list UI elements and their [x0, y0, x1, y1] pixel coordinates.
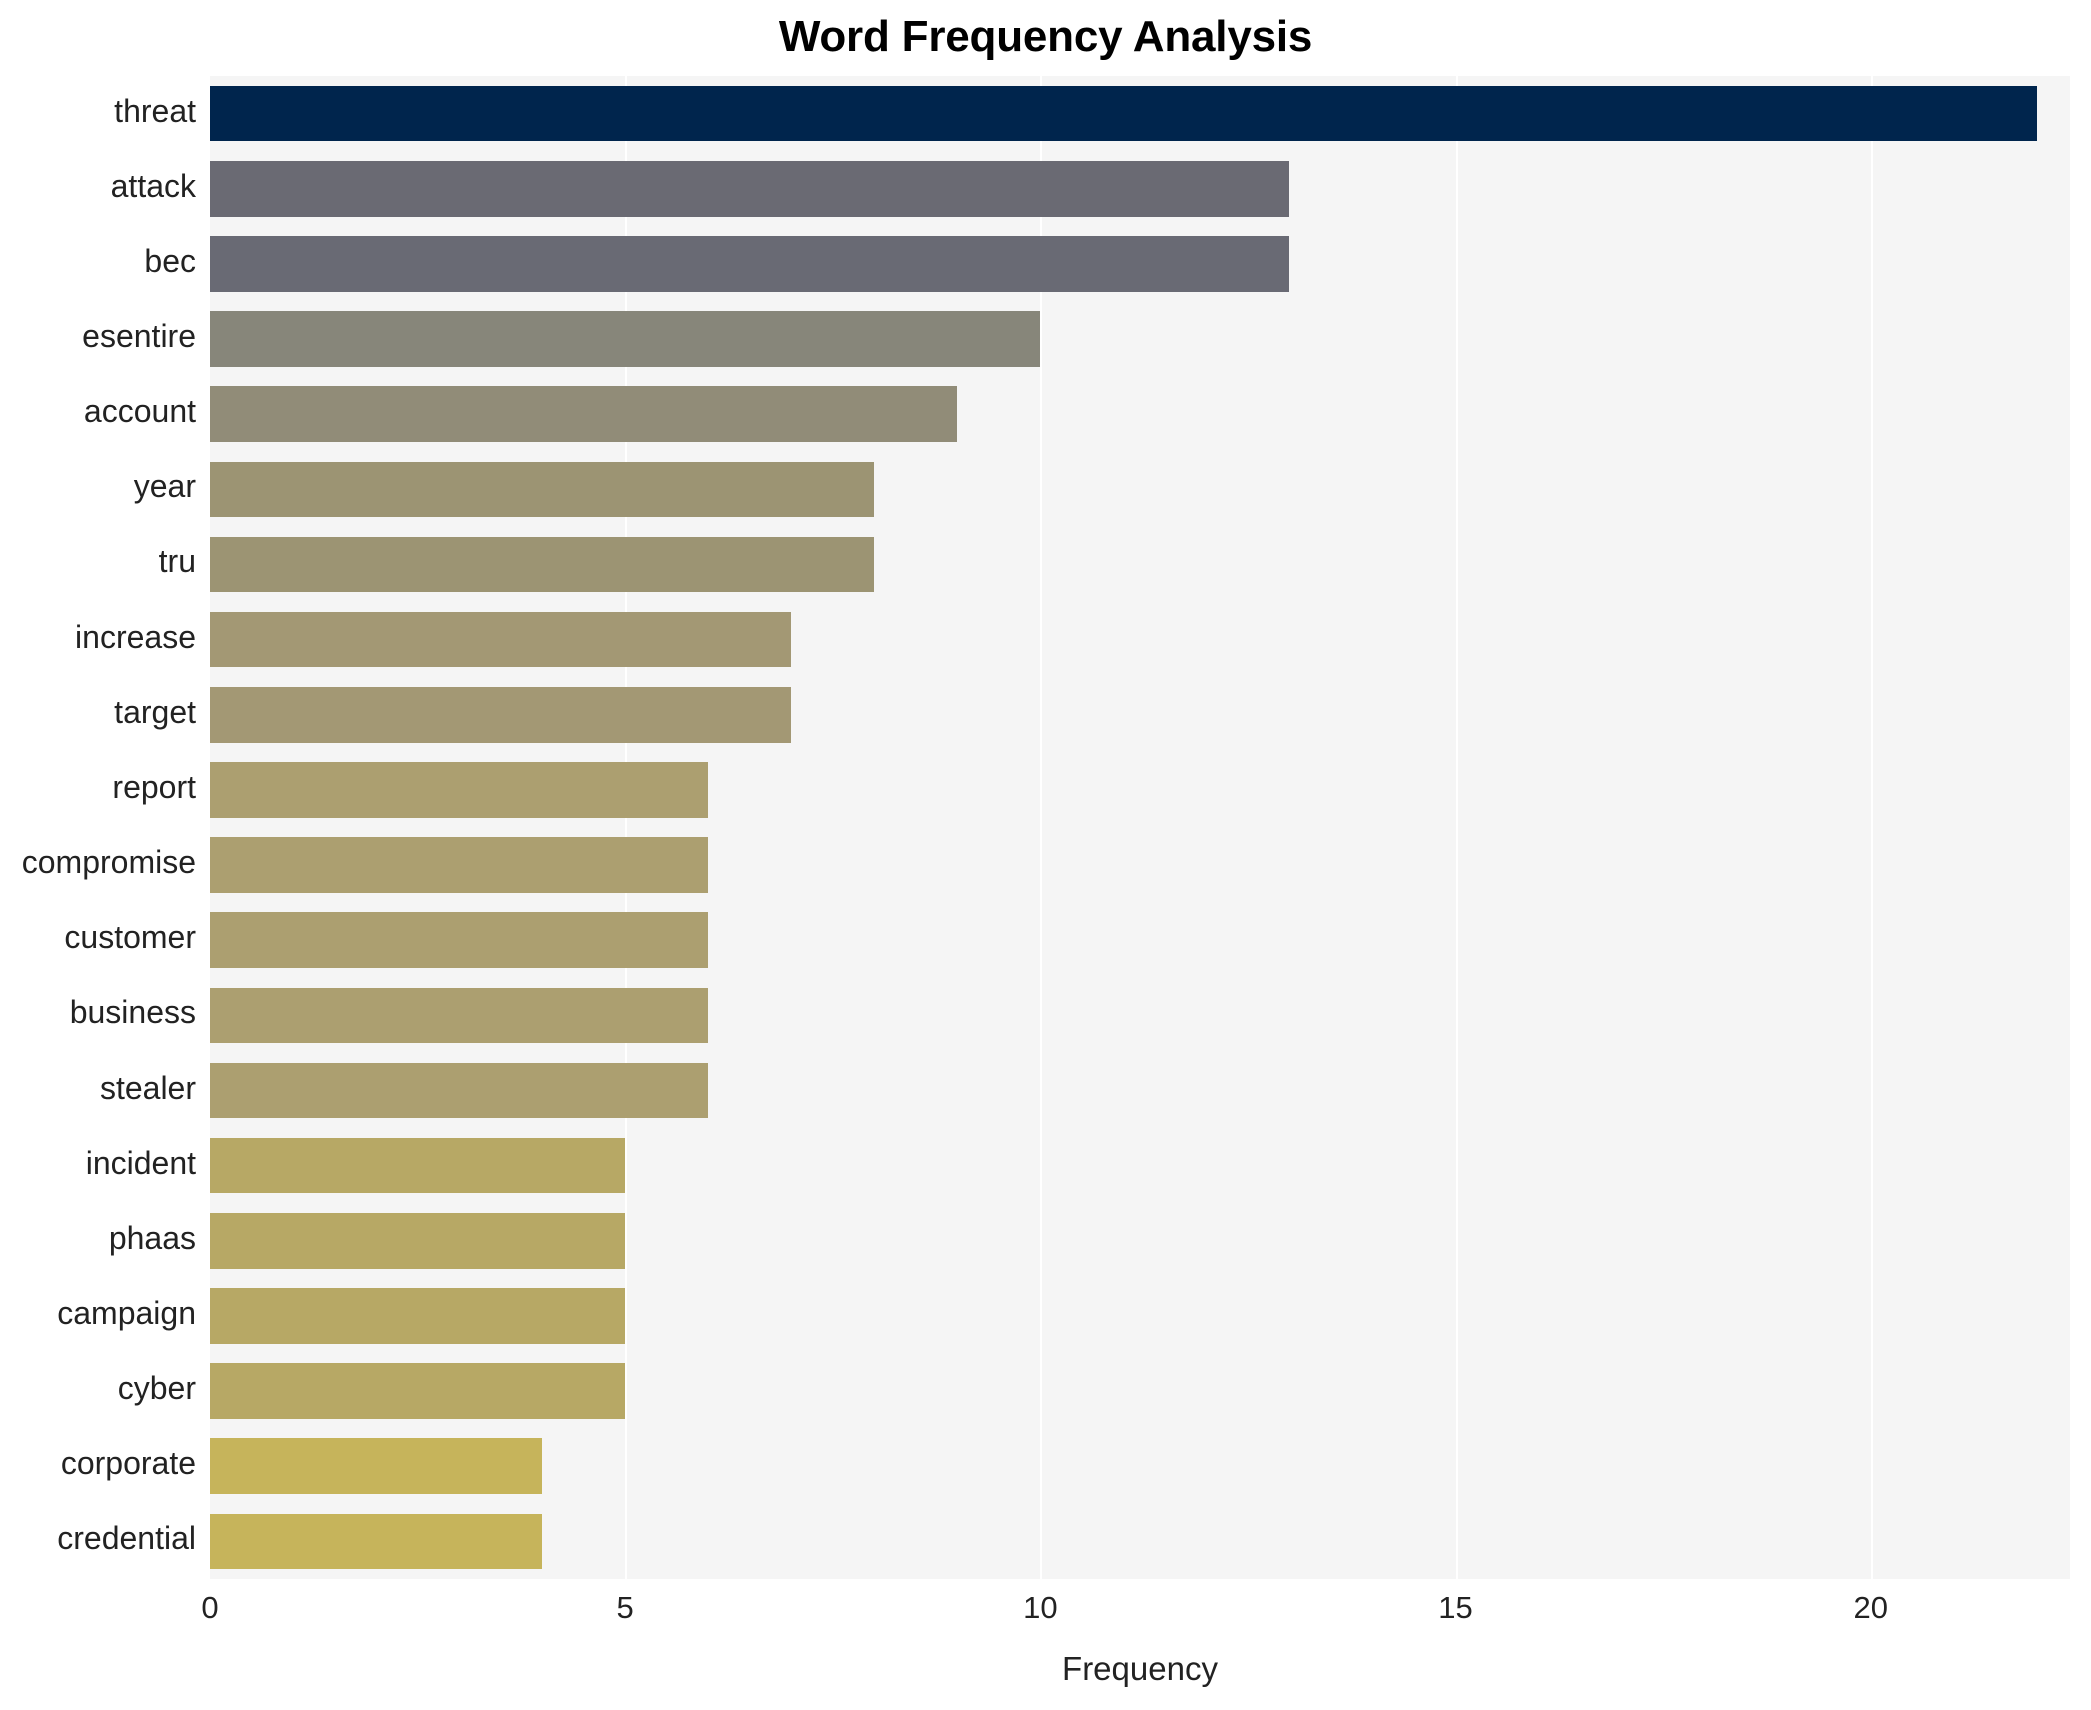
- y-tick-label-bec: bec: [0, 243, 196, 280]
- bar-report[interactable]: [210, 762, 708, 818]
- y-tick-label-incident: incident: [0, 1145, 196, 1182]
- bar-row: [210, 762, 2070, 818]
- bar-esentire[interactable]: [210, 311, 1040, 367]
- bar-row: [210, 1363, 2070, 1419]
- bar-row: [210, 988, 2070, 1044]
- bar-row: [210, 1063, 2070, 1119]
- bar-row: [210, 1288, 2070, 1344]
- plot-area: [210, 76, 2070, 1579]
- bar-attack[interactable]: [210, 161, 1289, 217]
- y-tick-label-campaign: campaign: [0, 1295, 196, 1332]
- bar-business[interactable]: [210, 988, 708, 1044]
- bar-target[interactable]: [210, 687, 791, 743]
- bar-incident[interactable]: [210, 1138, 625, 1194]
- y-tick-label-increase: increase: [0, 619, 196, 656]
- bar-corporate[interactable]: [210, 1438, 542, 1494]
- x-tick-label-10: 10: [1023, 1590, 1057, 1626]
- bar-row: [210, 912, 2070, 968]
- bar-row: [210, 687, 2070, 743]
- y-axis-tick-labels: threatattackbecesentireaccountyeartruinc…: [0, 76, 196, 1579]
- bar-row: [210, 1138, 2070, 1194]
- y-tick-label-cyber: cyber: [0, 1370, 196, 1407]
- bar-row: [210, 1213, 2070, 1269]
- y-tick-label-esentire: esentire: [0, 318, 196, 355]
- bar-compromise[interactable]: [210, 837, 708, 893]
- y-tick-label-business: business: [0, 994, 196, 1031]
- chart-page: Word Frequency Analysis threatattackbece…: [0, 0, 2091, 1710]
- y-tick-label-compromise: compromise: [0, 844, 196, 881]
- y-tick-label-account: account: [0, 393, 196, 430]
- bar-row: [210, 1514, 2070, 1570]
- y-tick-label-corporate: corporate: [0, 1445, 196, 1482]
- bar-row: [210, 612, 2070, 668]
- bar-row: [210, 86, 2070, 142]
- bar-campaign[interactable]: [210, 1288, 625, 1344]
- y-tick-label-stealer: stealer: [0, 1070, 196, 1107]
- x-tick-label-20: 20: [1853, 1590, 1887, 1626]
- bar-year[interactable]: [210, 462, 874, 518]
- bar-threat[interactable]: [210, 86, 2037, 142]
- bar-bec[interactable]: [210, 236, 1289, 292]
- y-tick-label-threat: threat: [0, 93, 196, 130]
- bar-account[interactable]: [210, 386, 957, 442]
- bar-phaas[interactable]: [210, 1213, 625, 1269]
- bar-stealer[interactable]: [210, 1063, 708, 1119]
- bar-row: [210, 311, 2070, 367]
- bar-credential[interactable]: [210, 1514, 542, 1570]
- y-tick-label-year: year: [0, 468, 196, 505]
- x-tick-label-0: 0: [201, 1590, 218, 1626]
- bar-row: [210, 837, 2070, 893]
- bar-customer[interactable]: [210, 912, 708, 968]
- bar-row: [210, 1438, 2070, 1494]
- bar-cyber[interactable]: [210, 1363, 625, 1419]
- y-tick-label-target: target: [0, 694, 196, 731]
- bar-row: [210, 161, 2070, 217]
- bar-row: [210, 462, 2070, 518]
- y-tick-label-report: report: [0, 769, 196, 806]
- x-tick-label-5: 5: [617, 1590, 634, 1626]
- y-tick-label-attack: attack: [0, 168, 196, 205]
- chart-title: Word Frequency Analysis: [0, 8, 2091, 66]
- bar-tru[interactable]: [210, 537, 874, 593]
- y-tick-label-tru: tru: [0, 543, 196, 580]
- bar-row: [210, 537, 2070, 593]
- bar-row: [210, 236, 2070, 292]
- y-tick-label-phaas: phaas: [0, 1220, 196, 1257]
- x-tick-label-15: 15: [1438, 1590, 1472, 1626]
- bars-container: [210, 76, 2070, 1579]
- bar-increase[interactable]: [210, 612, 791, 668]
- x-axis-title: Frequency: [210, 1650, 2070, 1688]
- bar-row: [210, 386, 2070, 442]
- y-tick-label-credential: credential: [0, 1520, 196, 1557]
- x-axis-tick-labels: 05101520: [0, 1590, 2091, 1646]
- y-tick-label-customer: customer: [0, 919, 196, 956]
